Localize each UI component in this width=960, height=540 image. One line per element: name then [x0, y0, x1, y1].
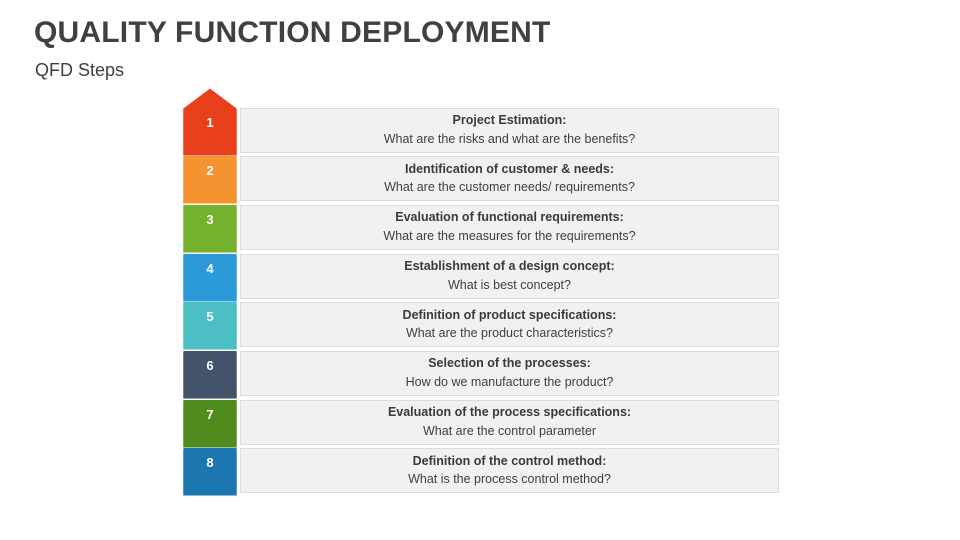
- step-number: 7: [182, 408, 238, 421]
- step-panel[interactable]: Definition of the control method:What is…: [240, 448, 779, 493]
- step-description: What are the customer needs/ requirement…: [384, 180, 635, 196]
- step-panel[interactable]: Definition of product specifications:Wha…: [240, 302, 779, 347]
- step-panel[interactable]: Identification of customer & needs:What …: [240, 156, 779, 201]
- step-description: What are the measures for the requiremen…: [383, 229, 635, 245]
- step-panel[interactable]: Evaluation of functional requirements:Wh…: [240, 205, 779, 250]
- slide-canvas: QUALITY FUNCTION DEPLOYMENT QFD Steps Pr…: [0, 0, 960, 540]
- step-description: What are the risks and what are the bene…: [384, 132, 636, 148]
- step-panel[interactable]: Establishment of a design concept:What i…: [240, 254, 779, 299]
- qfd-steps-diagram: Project Estimation:What are the risks an…: [0, 0, 960, 540]
- step-title: Definition of the control method:: [413, 454, 607, 470]
- step-title: Identification of customer & needs:: [405, 162, 614, 178]
- step-number: 6: [182, 359, 238, 372]
- step-title: Definition of product specifications:: [403, 308, 617, 324]
- step-panel[interactable]: Project Estimation:What are the risks an…: [240, 108, 779, 153]
- step-panel[interactable]: Evaluation of the process specifications…: [240, 400, 779, 445]
- step-title: Evaluation of functional requirements:: [395, 210, 624, 226]
- step-title: Establishment of a design concept:: [404, 259, 614, 275]
- step-number: 4: [182, 262, 238, 275]
- step-panel[interactable]: Selection of the processes:How do we man…: [240, 351, 779, 396]
- step-number: 1: [182, 116, 238, 129]
- step-description: What are the control parameter: [423, 424, 596, 440]
- step-chevron[interactable]: 1: [182, 87, 238, 157]
- step-number: 8: [182, 456, 238, 469]
- step-number: 2: [182, 164, 238, 177]
- step-title: Project Estimation:: [453, 113, 567, 129]
- step-number: 5: [182, 310, 238, 323]
- step-description: What is the process control method?: [408, 472, 611, 488]
- step-description: What are the product characteristics?: [406, 326, 613, 342]
- step-description: What is best concept?: [448, 278, 571, 294]
- step-description: How do we manufacture the product?: [406, 375, 614, 391]
- step-title: Selection of the processes:: [428, 356, 591, 372]
- step-title: Evaluation of the process specifications…: [388, 405, 631, 421]
- step-number: 3: [182, 213, 238, 226]
